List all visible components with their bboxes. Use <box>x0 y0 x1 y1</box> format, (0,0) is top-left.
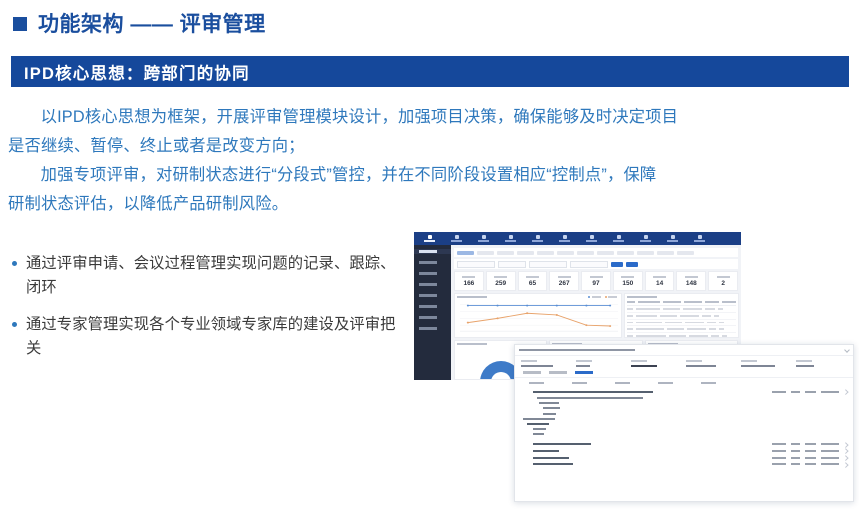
section-banner-text: IPD核心思想：跨部门的协同 <box>24 60 250 84</box>
sidebar-item[interactable] <box>414 304 451 309</box>
stat-value: 65 <box>529 280 536 287</box>
detail-tab-bar[interactable] <box>515 369 853 377</box>
stat-card[interactable]: 2 <box>708 271 738 291</box>
stat-value: 148 <box>686 280 697 287</box>
panel-title <box>457 343 487 345</box>
stat-value: 166 <box>463 280 474 287</box>
tab-item[interactable] <box>575 371 593 373</box>
detail-field <box>741 360 792 367</box>
tab-item[interactable] <box>637 251 654 255</box>
stat-card[interactable]: 166 <box>454 271 484 291</box>
stat-value: 97 <box>592 280 599 287</box>
list-item: 通过评审申请、会议过程管理实现问题的记录、跟踪、闭环 <box>10 252 410 300</box>
nav-item[interactable] <box>551 235 578 242</box>
nav-item-label <box>559 240 570 242</box>
paragraph-line: 加强专项评审，对研制状态进行“分段式”管控，并在不同阶段设置相应“控制点”，保障 <box>8 161 853 190</box>
nav-item-label <box>613 240 624 242</box>
nav-item[interactable] <box>686 235 713 242</box>
detail-row[interactable] <box>515 441 853 448</box>
sidebar-item[interactable] <box>414 271 451 276</box>
tab-item[interactable] <box>677 251 694 255</box>
nav-item[interactable] <box>416 235 443 242</box>
nav-home-icon <box>428 235 432 239</box>
stat-value: 14 <box>656 280 663 287</box>
tab-item[interactable] <box>617 251 634 255</box>
paragraph-line: 以IPD核心思想为框架，开展评审管理模块设计，加强项目决策，确保能够及时决定项目 <box>8 103 853 132</box>
chart-legend[interactable] <box>588 296 617 298</box>
nav-list-icon <box>671 235 675 239</box>
detail-field-row <box>515 356 853 369</box>
nav-user-icon <box>536 235 540 239</box>
detail-field <box>631 360 682 367</box>
nav-item-label <box>505 240 516 242</box>
nav-item-label <box>694 240 705 242</box>
nav-chart-icon <box>563 235 567 239</box>
list-item-label: 通过专家管理实现各个专业领域专家库的建设及评审把关 <box>26 313 410 361</box>
filter-input[interactable] <box>457 261 495 268</box>
nav-item-label <box>586 240 597 242</box>
dashboard-top-nav[interactable] <box>414 232 741 245</box>
nav-item[interactable] <box>443 235 470 242</box>
nav-more-icon <box>698 235 702 239</box>
nav-item-label <box>667 240 678 242</box>
body-paragraphs: 以IPD核心思想为框架，开展评审管理模块设计，加强项目决策，确保能够及时决定项目… <box>8 103 853 219</box>
stat-card[interactable]: 150 <box>613 271 643 291</box>
nav-doc-icon <box>482 235 486 239</box>
nav-item[interactable] <box>524 235 551 242</box>
filter-bar[interactable] <box>454 259 738 269</box>
line-chart-panel <box>454 293 622 338</box>
panel-title <box>457 296 487 298</box>
tab-item[interactable] <box>477 251 494 255</box>
sidebar-item[interactable] <box>414 315 451 320</box>
detail-field <box>686 360 737 367</box>
chevron-right-icon[interactable] <box>843 449 848 454</box>
table-row[interactable] <box>627 326 736 333</box>
nav-item-label <box>478 240 489 242</box>
stat-card-row: 166 259 65 267 97 150 14 148 2 <box>454 271 738 291</box>
nav-item[interactable] <box>497 235 524 242</box>
tab-item[interactable] <box>577 251 594 255</box>
nav-item-label <box>424 240 435 242</box>
tab-item[interactable] <box>517 251 534 255</box>
nav-item[interactable] <box>578 235 605 242</box>
product-screenshot-composite: 166 259 65 267 97 150 14 148 2 <box>414 232 854 504</box>
detail-row[interactable] <box>515 389 853 396</box>
sidebar-item[interactable] <box>414 282 451 287</box>
nav-item-label <box>640 240 651 242</box>
table-row[interactable] <box>627 333 736 340</box>
stat-value: 259 <box>495 280 506 287</box>
section-banner: IPD核心思想：跨部门的协同 <box>11 56 849 87</box>
nav-item-label <box>532 240 543 242</box>
detail-row <box>515 432 853 437</box>
stat-card[interactable]: 148 <box>676 271 706 291</box>
page-title-text: 功能架构 —— 评审管理 <box>38 8 266 38</box>
nav-cloud-icon <box>617 235 621 239</box>
nav-item[interactable] <box>659 235 686 242</box>
stat-value: 2 <box>721 280 725 287</box>
filter-select[interactable] <box>498 261 526 268</box>
nav-grid-icon <box>455 235 459 239</box>
sidebar-item[interactable] <box>414 249 451 254</box>
detail-content-rows <box>515 387 853 468</box>
nav-item-label <box>451 240 462 242</box>
legend-entry[interactable] <box>588 296 601 298</box>
chevron-right-icon[interactable] <box>843 455 848 460</box>
panel-title <box>627 296 657 298</box>
dashboard-tab-bar[interactable] <box>454 248 738 257</box>
bullet-dot-icon <box>12 261 17 266</box>
detail-row[interactable] <box>515 448 853 455</box>
sidebar-item[interactable] <box>414 326 451 331</box>
detail-field <box>521 360 572 367</box>
detail-field <box>576 360 627 367</box>
nav-item[interactable] <box>470 235 497 242</box>
chevron-right-icon[interactable] <box>843 462 848 467</box>
tab-item[interactable] <box>557 251 574 255</box>
list-item-label: 通过评审申请、会议过程管理实现问题的记录、跟踪、闭环 <box>26 252 410 300</box>
line-chart-plot <box>460 303 618 332</box>
tab-item[interactable] <box>497 251 514 255</box>
nav-flow-icon <box>509 235 513 239</box>
table-row[interactable] <box>627 306 736 313</box>
stat-card[interactable]: 97 <box>581 271 611 291</box>
filter-select[interactable] <box>570 261 608 268</box>
detail-field <box>796 360 847 367</box>
bullet-dot-icon <box>12 322 17 327</box>
sidebar-item[interactable] <box>414 260 451 265</box>
stat-card[interactable]: 14 <box>645 271 675 291</box>
list-item: 通过专家管理实现各个专业领域专家库的建设及评审把关 <box>10 313 410 361</box>
tab-item[interactable] <box>657 251 674 255</box>
nav-box-icon <box>590 235 594 239</box>
reset-button[interactable] <box>626 262 638 267</box>
tab-item[interactable] <box>597 251 614 255</box>
detail-window-title <box>519 349 635 352</box>
panels-row <box>454 293 738 338</box>
table-row[interactable] <box>627 313 736 320</box>
search-button[interactable] <box>611 262 623 267</box>
page-title: 功能架构 —— 评审管理 <box>13 8 266 38</box>
chevron-right-icon[interactable] <box>843 442 848 447</box>
table-row[interactable] <box>627 320 736 327</box>
paragraph-line: 是否继续、暂停、终止或者是改变方向； <box>8 132 853 161</box>
title-marker-icon <box>13 17 27 31</box>
tab-item[interactable] <box>549 371 567 373</box>
detail-row[interactable] <box>515 461 853 468</box>
stat-card[interactable]: 65 <box>518 271 548 291</box>
close-icon[interactable] <box>844 347 850 353</box>
tab-item[interactable] <box>457 251 474 255</box>
detail-row[interactable] <box>515 454 853 461</box>
data-table-panel <box>624 293 739 338</box>
detail-window-header <box>515 345 853 356</box>
nav-gear-icon <box>644 235 648 239</box>
detail-column-header <box>515 378 853 387</box>
stat-card[interactable]: 259 <box>486 271 516 291</box>
stat-value: 150 <box>622 280 633 287</box>
detail-window <box>514 344 854 502</box>
nav-item[interactable] <box>632 235 659 242</box>
stat-value: 267 <box>559 280 570 287</box>
stat-card[interactable]: 267 <box>549 271 579 291</box>
filter-input[interactable] <box>529 261 567 268</box>
line-chart-svg <box>460 303 618 332</box>
bullet-list: 通过评审申请、会议过程管理实现问题的记录、跟踪、闭环 通过专家管理实现各个专业领… <box>10 252 410 374</box>
tab-item[interactable] <box>523 371 541 373</box>
nav-item[interactable] <box>605 235 632 242</box>
sidebar-item[interactable] <box>414 293 451 298</box>
legend-entry[interactable] <box>605 296 618 298</box>
paragraph-line: 研制状态评估，以降低产品研制风险。 <box>8 190 853 219</box>
tab-item[interactable] <box>537 251 554 255</box>
dashboard-sidebar[interactable] <box>414 245 451 380</box>
chevron-right-icon[interactable] <box>843 390 848 395</box>
